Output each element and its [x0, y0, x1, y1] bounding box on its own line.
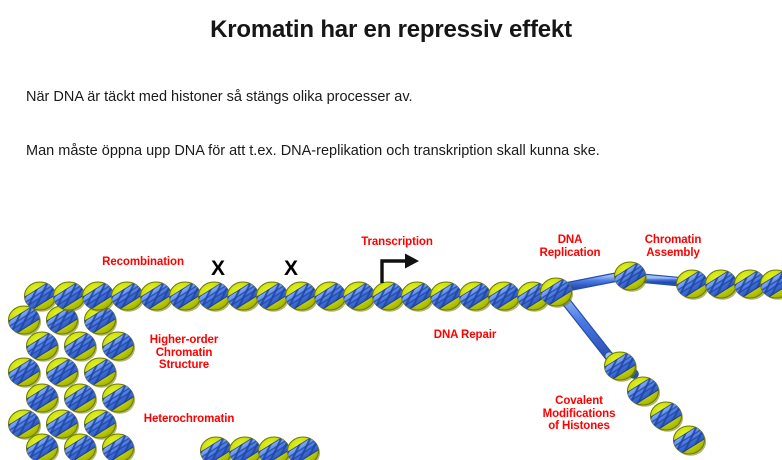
diagram-label-recombination: Recombination — [88, 256, 198, 269]
chromatin-assembly-chain — [609, 259, 782, 301]
main-nucleosome-chain — [19, 275, 577, 313]
diagram-label-heterochromatin: Heterochromatin — [126, 413, 252, 426]
chromatin-processes-diagram: Recombination Higher-order Chromatin Str… — [0, 208, 782, 460]
diagram-label-chromatin-assembly: Chromatin Assembly — [627, 234, 719, 259]
diagram-label-transcription: Transcription — [345, 236, 449, 249]
heterochromatin-block — [3, 303, 139, 460]
diagram-label-dna-replication: DNA Replication — [526, 234, 614, 259]
page-title: Kromatin har en repressiv effekt — [0, 16, 782, 44]
diagram-label-higher-order-chromatin-structure: Higher-order Chromatin Structure — [128, 334, 240, 372]
recombination-crossover-x-left: X — [211, 258, 225, 279]
transcription-arrow-icon — [382, 254, 419, 284]
body-paragraph-2: Man måste öppna upp DNA för att t.ex. DN… — [26, 143, 600, 159]
diagram-label-covalent-modifications-of-histones: Covalent Modifications of Histones — [521, 395, 637, 433]
diagram-label-dna-repair: DNA Repair — [419, 329, 511, 342]
recombination-crossover-x-right: X — [284, 258, 298, 279]
body-paragraph-1: När DNA är täckt med histoner så stängs … — [26, 89, 413, 105]
recombination-fragment-chain — [195, 434, 324, 460]
